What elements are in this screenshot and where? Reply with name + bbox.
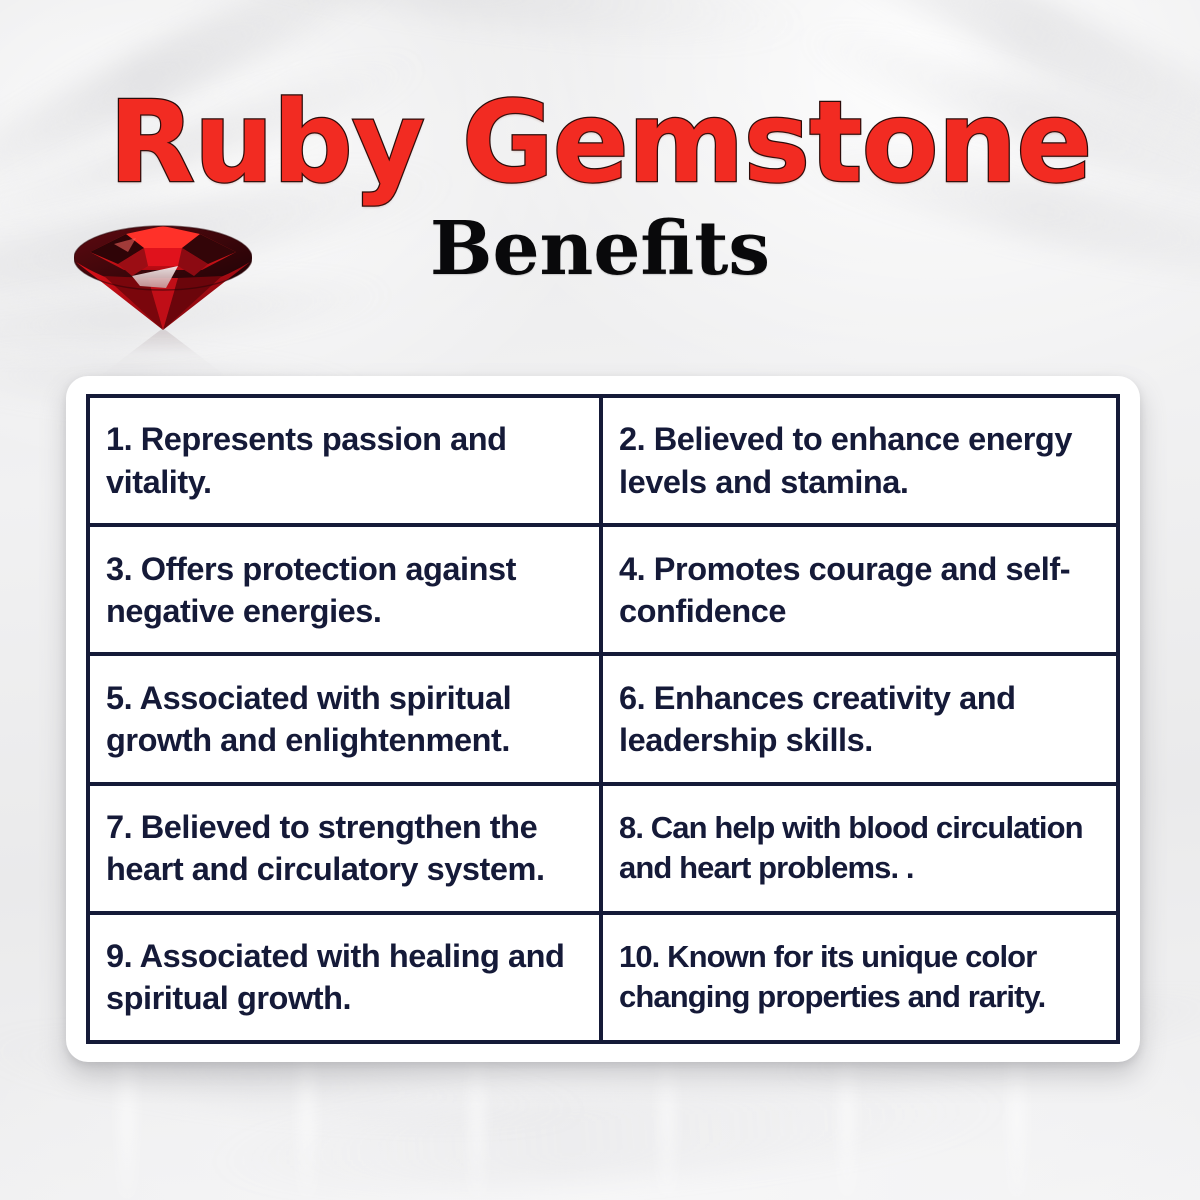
page-title: Ruby Gemstone [0, 86, 1200, 200]
table-row: 1. Represents passion and vitality. 2. B… [90, 398, 1116, 527]
benefit-text: 8. Can help with blood circulation and h… [619, 808, 1102, 889]
table-row: 5. Associated with spiritual growth and … [90, 656, 1116, 785]
benefit-text: 7. Believed to strengthen the heart and … [106, 806, 585, 891]
ruby-gemstone-icon [74, 218, 252, 330]
table-row: 7. Believed to strengthen the heart and … [90, 786, 1116, 915]
benefit-text: 10. Known for its unique color changing … [619, 937, 1102, 1018]
gem-reflection [100, 328, 226, 376]
ruby-benefits-poster: Ruby Gemstone Benefits [0, 0, 1200, 1200]
benefit-cell-2: 2. Believed to enhance energy levels and… [603, 398, 1116, 523]
benefit-text: 4. Promotes courage and self-confidence [619, 548, 1102, 633]
benefit-text: 2. Believed to enhance energy levels and… [619, 418, 1102, 503]
benefits-card: 1. Represents passion and vitality. 2. B… [66, 376, 1140, 1062]
benefit-cell-7: 7. Believed to strengthen the heart and … [90, 786, 603, 911]
benefit-text: 5. Associated with spiritual growth and … [106, 677, 585, 762]
benefit-text: 1. Represents passion and vitality. [106, 418, 585, 503]
benefit-cell-1: 1. Represents passion and vitality. [90, 398, 603, 523]
benefits-table: 1. Represents passion and vitality. 2. B… [86, 394, 1120, 1044]
table-row: 9. Associated with healing and spiritual… [90, 915, 1116, 1040]
benefit-cell-10: 10. Known for its unique color changing … [603, 915, 1116, 1040]
ruby-gem-illustration [74, 218, 252, 378]
benefit-cell-6: 6. Enhances creativity and leadership sk… [603, 656, 1116, 781]
benefit-cell-5: 5. Associated with spiritual growth and … [90, 656, 603, 781]
benefit-cell-4: 4. Promotes courage and self-confidence [603, 527, 1116, 652]
benefit-cell-3: 3. Offers protection against negative en… [90, 527, 603, 652]
benefit-text: 9. Associated with healing and spiritual… [106, 935, 585, 1020]
benefit-text: 6. Enhances creativity and leadership sk… [619, 677, 1102, 762]
table-row: 3. Offers protection against negative en… [90, 527, 1116, 656]
benefit-cell-8: 8. Can help with blood circulation and h… [603, 786, 1116, 911]
benefit-text: 3. Offers protection against negative en… [106, 548, 585, 633]
benefit-cell-9: 9. Associated with healing and spiritual… [90, 915, 603, 1040]
